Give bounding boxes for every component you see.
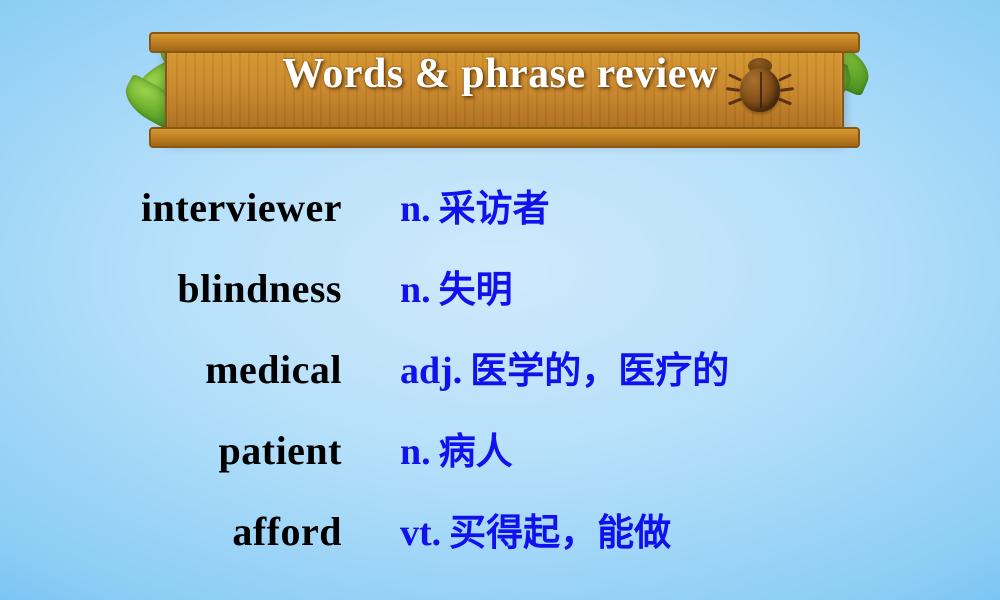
part-of-speech: vt. xyxy=(400,512,441,554)
vocabulary-meaning: n.病人 xyxy=(400,421,1000,475)
vocabulary-meaning: n.采访者 xyxy=(400,178,1000,232)
title-banner: Words & phrase review xyxy=(120,28,880,146)
chinese-gloss: 医学的，医疗的 xyxy=(470,349,729,392)
chinese-gloss: 买得起，能做 xyxy=(449,511,671,554)
slide-canvas: Words & phrase review interviewer n.采访者 … xyxy=(0,0,1000,600)
vocabulary-word: interviewer xyxy=(0,184,400,231)
chinese-gloss: 采访者 xyxy=(439,187,550,230)
vocabulary-meaning: adj.医学的，医疗的 xyxy=(400,340,1000,394)
vocabulary-row: interviewer n.采访者 xyxy=(0,178,1000,259)
vocabulary-row: medical adj.医学的，医疗的 xyxy=(0,340,1000,421)
part-of-speech: n. xyxy=(400,188,431,230)
vocabulary-row: blindness n.失明 xyxy=(0,259,1000,340)
part-of-speech: n. xyxy=(400,431,431,473)
chinese-gloss: 病人 xyxy=(439,430,513,473)
chinese-gloss: 失明 xyxy=(439,268,513,311)
part-of-speech: adj. xyxy=(400,350,462,392)
vocabulary-word: patient xyxy=(0,427,400,474)
vocabulary-row: afford vt.买得起，能做 xyxy=(0,502,1000,583)
vocabulary-meaning: vt.买得起，能做 xyxy=(400,502,1000,556)
beetle-icon xyxy=(732,54,788,116)
vocabulary-word: medical xyxy=(0,346,400,393)
vocabulary-word: afford xyxy=(0,508,400,555)
vocabulary-meaning: n.失明 xyxy=(400,259,1000,313)
part-of-speech: n. xyxy=(400,269,431,311)
vocabulary-word: blindness xyxy=(0,265,400,312)
vocabulary-row: patient n.病人 xyxy=(0,421,1000,502)
vocabulary-list: interviewer n.采访者 blindness n.失明 medical… xyxy=(0,178,1000,583)
